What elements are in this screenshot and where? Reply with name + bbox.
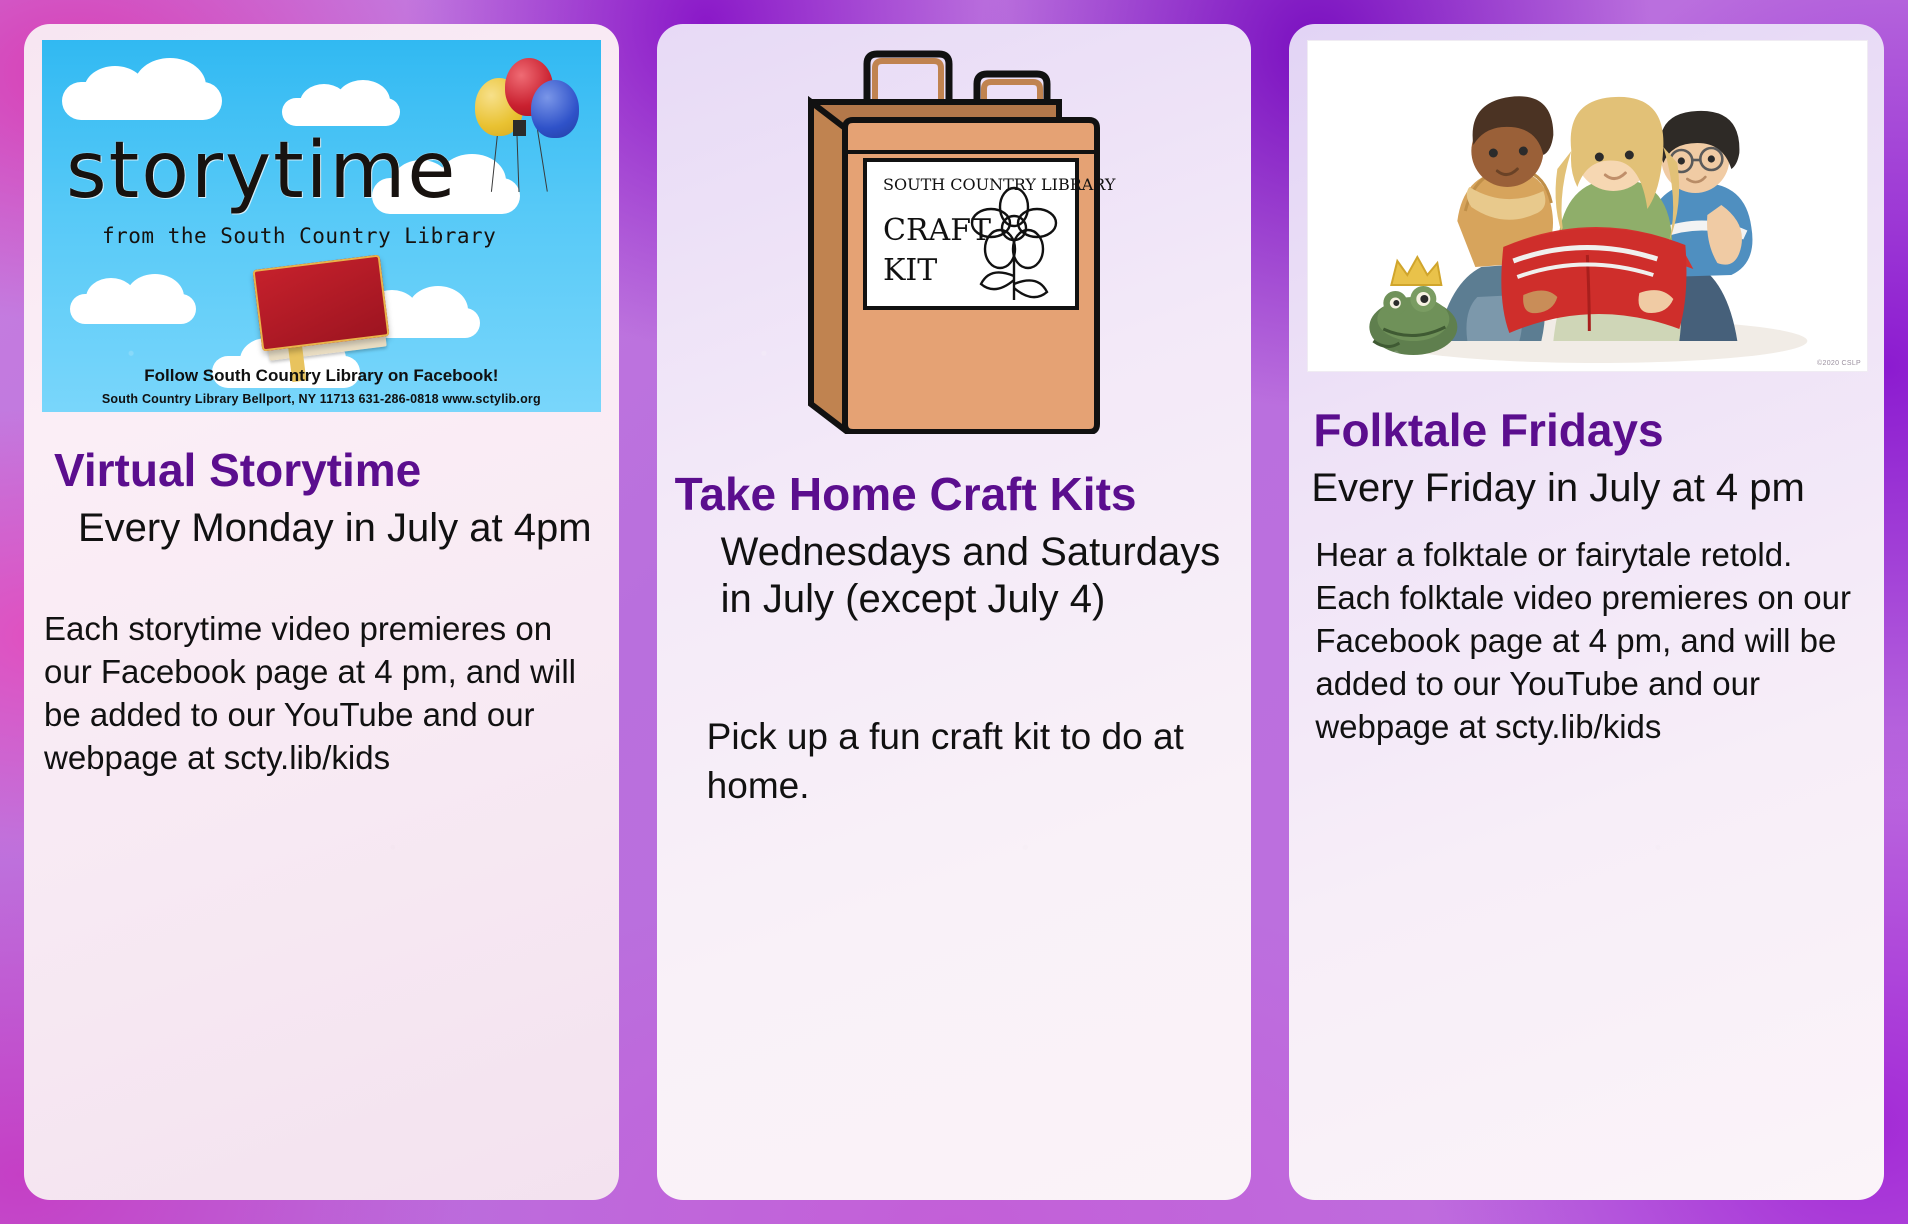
bag-label-line-1: SOUTH COUNTRY LIBRARY [883,175,1116,194]
balloons-icon [461,56,579,206]
card-title-folktale-fridays: Folktale Fridays [1313,406,1866,455]
poster-subheading: from the South Country Library [102,224,496,248]
poster-heading: storytime [66,126,457,216]
card-folktale-fridays[interactable]: ©2020 CSLP Folktale Fridays Every Friday… [1289,24,1884,1200]
book-icon [253,255,390,352]
folktale-photo-media: ©2020 CSLP [1307,40,1866,372]
image-credit: ©2020 CSLP [1817,360,1861,367]
craft-bag-media: SOUTH COUNTRY LIBRARY CRAFT KIT [675,40,1234,436]
bag-label-line-3: KIT [883,253,937,288]
card-title-take-home-craft-kits: Take Home Craft Kits [675,470,1234,519]
poster-footer: Follow South Country Library on Facebook… [42,366,601,406]
card-schedule-virtual-storytime: Every Monday in July at 4pm [78,505,601,552]
flyer-page: storytime from the South Country Library… [0,0,1908,1224]
card-body-virtual-storytime: Each storytime video premieres on our Fa… [44,608,601,780]
cloud-icon [70,278,198,324]
paper-bag-icon: SOUTH COUNTRY LIBRARY CRAFT KIT [789,44,1119,434]
card-schedule-folktale-fridays: Every Friday in July at 4 pm [1311,465,1866,512]
card-take-home-craft-kits[interactable]: SOUTH COUNTRY LIBRARY CRAFT KIT [657,24,1252,1200]
storytime-poster-image: storytime from the South Country Library… [42,40,601,412]
poster-footer-line-1: Follow South Country Library on Facebook… [42,366,601,386]
cards-row: storytime from the South Country Library… [0,0,1908,1224]
card-body-folktale-fridays: Hear a folktale or fairytale retold. Eac… [1315,534,1866,748]
cloud-icon [62,64,232,120]
children-reading-illustration [1308,41,1867,371]
storytime-poster-media: storytime from the South Country Library… [42,40,601,412]
card-virtual-storytime[interactable]: storytime from the South Country Library… [24,24,619,1200]
card-schedule-take-home-craft-kits: Wednesdays and Saturdays in July (except… [721,529,1234,623]
poster-footer-line-2: South Country Library Bellport, NY 11713… [42,392,601,406]
card-body-take-home-craft-kits: Pick up a fun craft kit to do at home. [707,713,1234,811]
card-title-virtual-storytime: Virtual Storytime [54,446,601,495]
children-reading-image: ©2020 CSLP [1307,40,1868,372]
cloud-icon [282,84,402,126]
